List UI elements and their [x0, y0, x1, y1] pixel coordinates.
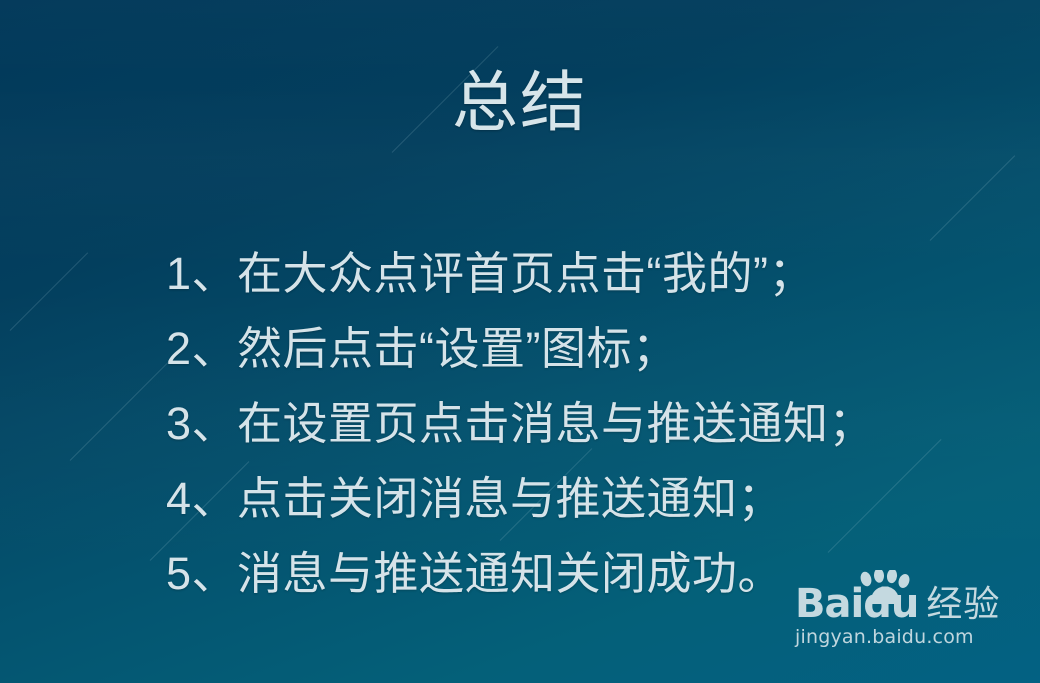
decorative-diagonal-line	[10, 252, 88, 330]
list-item: 3、在设置页点击消息与推送通知；	[166, 386, 966, 461]
decorative-diagonal-line	[70, 354, 177, 461]
baidu-paw-icon	[857, 570, 911, 604]
list-item: 1、在大众点评首页点击“我的”；	[166, 236, 966, 311]
list-item: 2、然后点击“设置”图标；	[166, 311, 966, 386]
list-item: 4、点击关闭消息与推送通知；	[166, 461, 966, 536]
slide-canvas: 总结 1、在大众点评首页点击“我的”； 2、然后点击“设置”图标； 3、在设置页…	[0, 0, 1040, 683]
page-title: 总结	[0, 66, 1040, 140]
decorative-diagonal-line	[930, 155, 1016, 241]
watermark-url: jingyan.baidu.com	[795, 626, 1035, 648]
watermark-brand-suffix: 经验	[926, 584, 1000, 624]
steps-list: 1、在大众点评首页点击“我的”； 2、然后点击“设置”图标； 3、在设置页点击消…	[166, 236, 966, 611]
watermark-logo-row: Baidu 经验	[795, 576, 1035, 624]
baidu-jingyan-watermark: Baidu 经验 jingyan.baidu.com	[795, 576, 1035, 652]
